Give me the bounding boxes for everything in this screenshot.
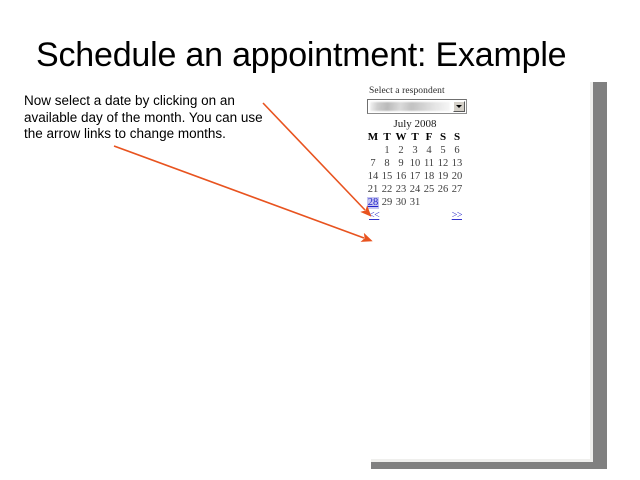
weekday-header: S <box>436 131 450 144</box>
calendar-week-row: 21222324252627 <box>366 183 464 196</box>
slide-shadow-bottom <box>371 462 607 469</box>
calendar-day: 25 <box>422 183 436 196</box>
calendar-day-empty <box>450 196 464 209</box>
calendar-day: 10 <box>408 157 422 170</box>
respondent-select[interactable] <box>367 99 467 114</box>
calendar-day-empty <box>422 196 436 209</box>
calendar-week-row: 123456 <box>366 144 464 157</box>
calendar-day: 26 <box>436 183 450 196</box>
weekday-header: W <box>394 131 408 144</box>
calendar-grid: M T W T F S S 12345678910111213141516171… <box>366 131 464 209</box>
instruction-text: Now select a date by clicking on an avai… <box>24 93 270 143</box>
calendar-day: 15 <box>380 170 394 183</box>
calendar-nav: << >> <box>366 210 464 224</box>
calendar-day: 22 <box>380 183 394 196</box>
chevron-down-icon[interactable] <box>453 101 465 112</box>
respondent-selected-value <box>370 102 450 111</box>
calendar-week-row: 78910111213 <box>366 157 464 170</box>
calendar-week-row: 28293031 <box>366 196 464 209</box>
calendar-widget: Select a respondent July 2008 M T W T F … <box>366 86 476 224</box>
calendar-day: 4 <box>422 144 436 157</box>
calendar-day: 1 <box>380 144 394 157</box>
page-title: Schedule an appointment: Example <box>36 36 616 75</box>
calendar-day: 20 <box>450 170 464 183</box>
calendar-weekday-header-row: M T W T F S S <box>366 131 464 144</box>
next-month-link[interactable]: >> <box>452 210 462 221</box>
calendar-day: 18 <box>422 170 436 183</box>
calendar-day: 16 <box>394 170 408 183</box>
calendar-week-row: 14151617181920 <box>366 170 464 183</box>
calendar-day-link[interactable]: 28 <box>367 197 380 209</box>
calendar-day: 29 <box>380 196 394 209</box>
slide-canvas: Schedule an appointment: Example Now sel… <box>0 0 640 480</box>
calendar-day: 23 <box>394 183 408 196</box>
calendar-day: 14 <box>366 170 380 183</box>
slide-shadow-right <box>593 82 607 463</box>
calendar-day: 6 <box>450 144 464 157</box>
calendar-day-empty <box>436 196 450 209</box>
weekday-header: M <box>366 131 380 144</box>
calendar-day: 13 <box>450 157 464 170</box>
weekday-header: T <box>380 131 394 144</box>
calendar-day: 8 <box>380 157 394 170</box>
calendar-day: 5 <box>436 144 450 157</box>
calendar-day: 7 <box>366 157 380 170</box>
calendar-day: 21 <box>366 183 380 196</box>
arrow-to-month-nav <box>114 146 364 238</box>
calendar-day: 9 <box>394 157 408 170</box>
respondent-label: Select a respondent <box>369 86 476 96</box>
calendar-day: 30 <box>394 196 408 209</box>
weekday-header: F <box>422 131 436 144</box>
previous-month-link[interactable]: << <box>369 210 379 221</box>
calendar-day-selectable[interactable]: 28 <box>366 196 380 209</box>
weekday-header: S <box>450 131 464 144</box>
calendar-day: 31 <box>408 196 422 209</box>
calendar-day: 24 <box>408 183 422 196</box>
weekday-header: T <box>408 131 422 144</box>
calendar-day: 2 <box>394 144 408 157</box>
calendar-day-empty <box>366 144 380 157</box>
calendar-day: 17 <box>408 170 422 183</box>
calendar-month-title: July 2008 <box>366 118 464 130</box>
calendar-day: 11 <box>422 157 436 170</box>
arrow-to-date-grid <box>263 103 365 210</box>
calendar-day: 3 <box>408 144 422 157</box>
calendar-day: 12 <box>436 157 450 170</box>
calendar-day: 19 <box>436 170 450 183</box>
calendar-body: 1234567891011121314151617181920212223242… <box>366 144 464 209</box>
calendar-day: 27 <box>450 183 464 196</box>
